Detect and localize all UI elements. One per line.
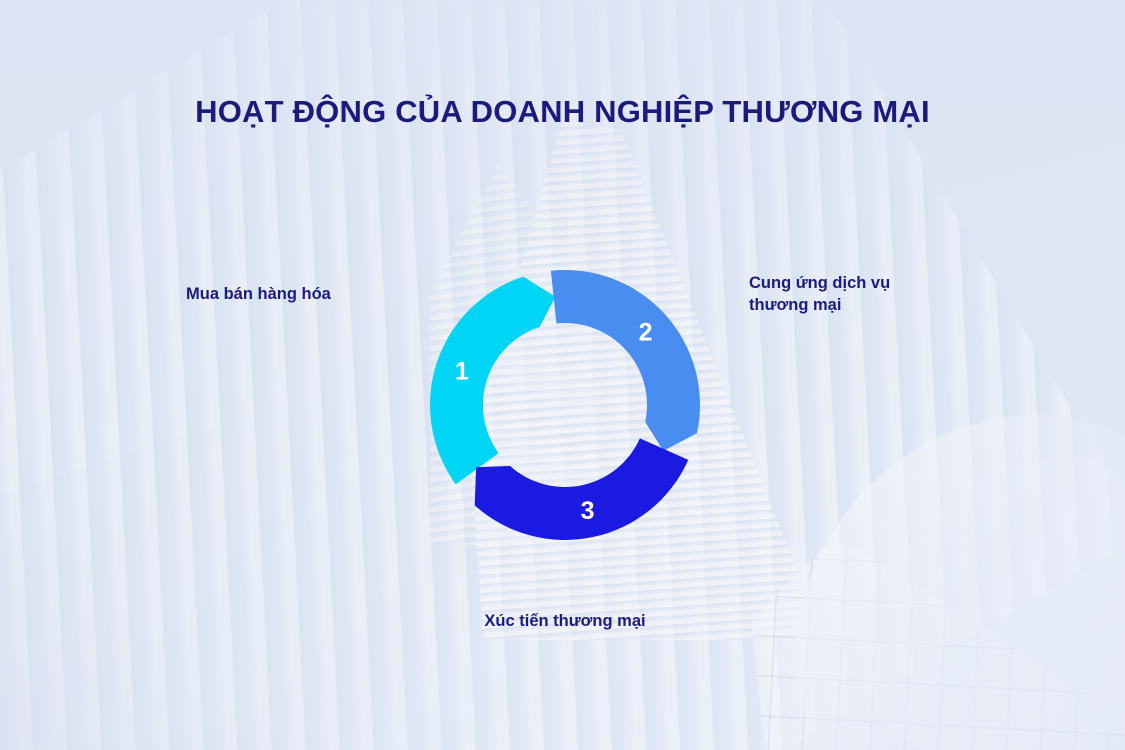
chart-label-1: Mua bán hàng hóa: [186, 283, 416, 305]
cycle-chart-svg: 123: [395, 235, 735, 575]
chart-label-2: Cung ứng dịch vụ thương mại: [749, 272, 999, 317]
slide-canvas: HOẠT ĐỘNG CỦA DOANH NGHIỆP THƯƠNG MẠI 12…: [0, 0, 1125, 750]
chart-segment-1-shape[interactable]: [430, 277, 556, 485]
chart-label-3: Xúc tiến thương mại: [400, 610, 730, 632]
chart-label-2-line1: Cung ứng dịch vụ: [749, 272, 999, 294]
chart-segment-2-number: 2: [639, 318, 653, 346]
chart-label-2-line2: thương mại: [749, 294, 999, 316]
chart-segment-2-shape[interactable]: [551, 270, 700, 451]
chart-segment-1-number: 1: [455, 357, 469, 385]
chart-segment-1[interactable]: [430, 277, 556, 485]
chart-segment-2[interactable]: [551, 270, 700, 451]
page-title: HOẠT ĐỘNG CỦA DOANH NGHIỆP THƯƠNG MẠI: [0, 94, 1125, 130]
cycle-diagram: 123: [395, 235, 735, 575]
chart-segment-3-number: 3: [581, 497, 595, 525]
